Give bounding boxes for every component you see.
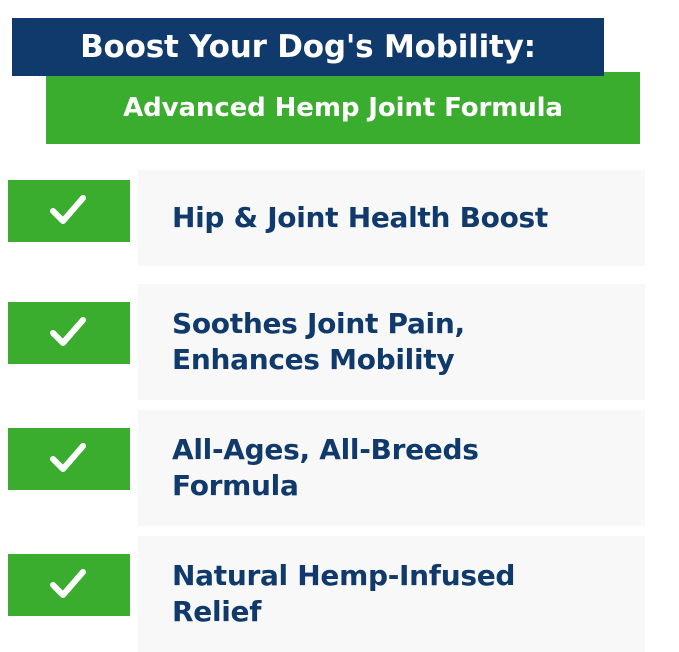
header: Boost Your Dog's Mobility: Advanced Hemp… [0, 0, 679, 160]
feature-list: Hip & Joint Health Boost Soothes Joint P… [0, 180, 679, 650]
page-title: Boost Your Dog's Mobility: [12, 18, 604, 76]
list-item: All-Ages, All-Breeds Formula [8, 416, 679, 524]
feature-check-badge [8, 554, 130, 616]
list-item: Natural Hemp-Infused Relief [8, 542, 679, 650]
feature-card: Soothes Joint Pain, Enhances Mobility [138, 284, 645, 400]
list-item: Hip & Joint Health Boost [8, 180, 679, 272]
check-icon [50, 316, 86, 350]
feature-card: Hip & Joint Health Boost [138, 170, 645, 266]
feature-label: Soothes Joint Pain, Enhances Mobility [138, 306, 479, 378]
check-icon [50, 568, 86, 602]
check-icon [50, 194, 86, 228]
page-subtitle: Advanced Hemp Joint Formula [46, 72, 640, 144]
feature-card: All-Ages, All-Breeds Formula [138, 410, 645, 526]
feature-label: All-Ages, All-Breeds Formula [138, 432, 493, 504]
feature-check-badge [8, 302, 130, 364]
feature-check-badge [8, 180, 130, 242]
feature-check-badge [8, 428, 130, 490]
infographic-page: Boost Your Dog's Mobility: Advanced Hemp… [0, 0, 679, 645]
list-item: Soothes Joint Pain, Enhances Mobility [8, 290, 679, 398]
feature-label: Hip & Joint Health Boost [138, 200, 562, 236]
feature-card: Natural Hemp-Infused Relief [138, 536, 645, 652]
check-icon [50, 442, 86, 476]
feature-label: Natural Hemp-Infused Relief [138, 558, 529, 630]
